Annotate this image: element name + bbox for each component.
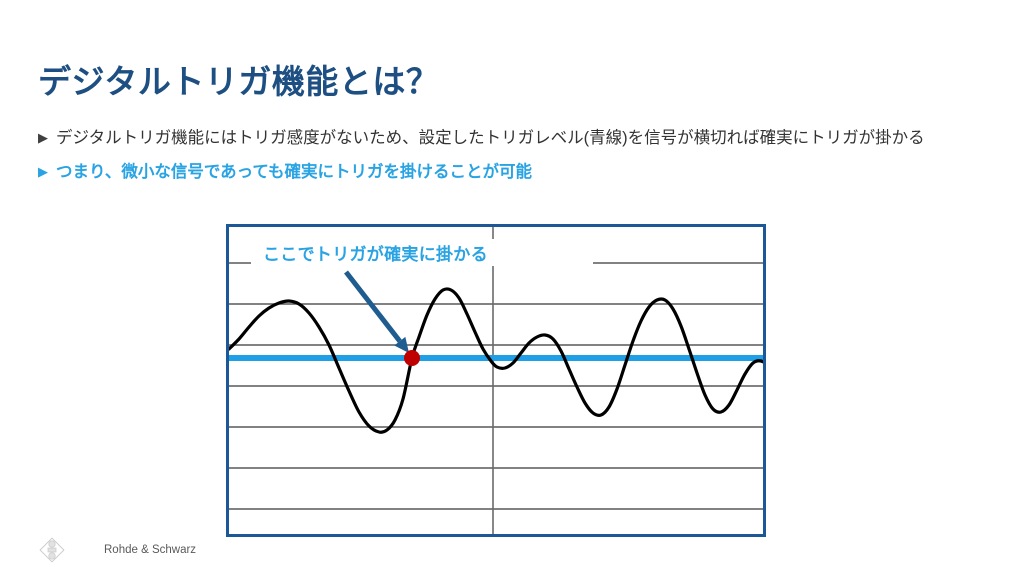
bullet-text: デジタルトリガ機能にはトリガ感度がないため、設定したトリガレベル(青線)を信号が… — [56, 126, 998, 151]
oscilloscope-screen: ここでトリガが確実に掛かる — [226, 224, 766, 537]
bullet-marker-icon: ▶ — [38, 126, 56, 149]
bullet-text: つまり、微小な信号であっても確実にトリガを掛けることが可能 — [56, 160, 998, 185]
grid-horizontal-lines — [229, 263, 763, 509]
annotation-arrow-icon — [346, 272, 409, 353]
rs-diamond-logo-icon — [38, 536, 66, 564]
trigger-point-marker — [404, 350, 420, 366]
trigger-annotation-label: ここでトリガが確実に掛かる — [257, 239, 496, 266]
bullet-item-1: ▶ デジタルトリガ機能にはトリガ感度がないため、設定したトリガレベル(青線)を信… — [38, 126, 998, 151]
footer-brand-text: Rohde & Schwarz — [104, 544, 196, 556]
page-title: デジタルトリガ機能とは？ — [38, 55, 439, 103]
bullet-marker-icon: ▶ — [38, 160, 56, 183]
slide-footer: Rohde & Schwarz — [38, 536, 196, 564]
waveform-svg — [229, 227, 763, 534]
bullet-list: ▶ デジタルトリガ機能にはトリガ感度がないため、設定したトリガレベル(青線)を信… — [38, 126, 998, 194]
waveform-plot-area — [229, 227, 763, 534]
bullet-item-2: ▶ つまり、微小な信号であっても確実にトリガを掛けることが可能 — [38, 160, 998, 185]
